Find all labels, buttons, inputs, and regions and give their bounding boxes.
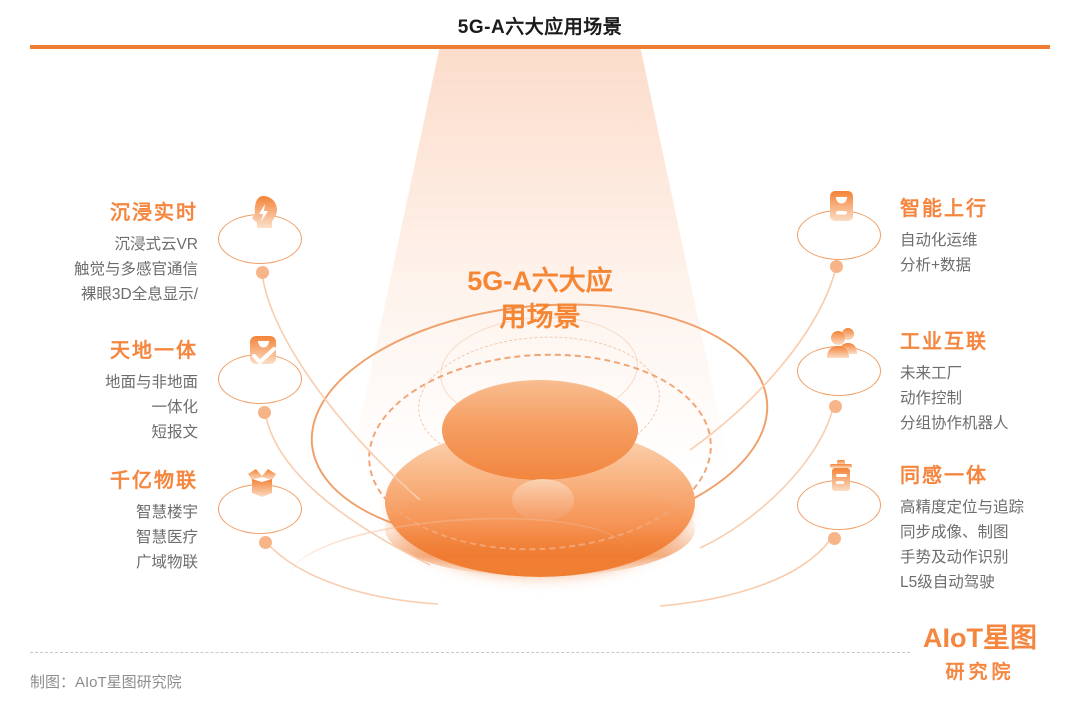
head-lightning-icon	[242, 192, 282, 236]
item-immersive: 沉浸实时 沉浸式云VR 触觉与多感官通信 裸眼3D全息显示/	[0, 196, 198, 307]
item-line: 同步成像、制图	[900, 520, 1080, 545]
connector-dot	[829, 400, 842, 413]
item-lines: 沉浸式云VR 触觉与多感官通信 裸眼3D全息显示/	[0, 232, 198, 307]
item-industrial: 工业互联 未来工厂 动作控制 分组协作机器人	[900, 325, 1080, 436]
item-line: 分组协作机器人	[900, 411, 1080, 436]
open-box-icon	[242, 462, 282, 506]
users-group-icon	[821, 324, 861, 368]
item-line: 沉浸式云VR	[0, 232, 198, 257]
badge-uplink[interactable]	[797, 186, 883, 272]
item-line: 分析+数据	[900, 253, 1080, 278]
center-label: 5G-A六大应 用场景	[290, 264, 790, 335]
item-lines: 高精度定位与追踪 同步成像、制图 手势及动作识别 L5级自动驾驶	[900, 495, 1080, 595]
item-line: 触觉与多感官通信	[0, 257, 198, 282]
logo-sub-text: 研究院	[905, 657, 1055, 684]
infographic-page: 5G-A六大应用场景 5G-A六大应 用场景	[0, 0, 1080, 709]
item-title: 工业互联	[900, 325, 1080, 354]
item-integrated: 天地一体 地面与非地面 一体化 短报文	[0, 334, 198, 445]
item-line: 高精度定位与追踪	[900, 495, 1080, 520]
item-title: 智能上行	[900, 192, 1080, 221]
logo-main-text: AIoT星图	[905, 625, 1055, 652]
item-line: 地面与非地面	[0, 370, 198, 395]
item-line: 动作控制	[900, 386, 1080, 411]
item-line: 短报文	[0, 420, 198, 445]
item-line: 智慧医疗	[0, 525, 198, 550]
connector-dot	[828, 532, 841, 545]
item-sensing: 同感一体 高精度定位与追踪 同步成像、制图 手势及动作识别 L5级自动驾驶	[900, 459, 1080, 595]
connector-dot	[258, 406, 271, 419]
item-line: 一体化	[0, 395, 198, 420]
item-lines: 智慧楼宇 智慧医疗 广域物联	[0, 500, 198, 575]
item-line: 智慧楼宇	[0, 500, 198, 525]
item-iot: 千亿物联 智慧楼宇 智慧医疗 广域物联	[0, 464, 198, 575]
center-label-line1: 5G-A六大应	[290, 264, 790, 300]
item-line: 裸眼3D全息显示/	[0, 282, 198, 307]
badge-iot[interactable]	[218, 460, 304, 546]
item-line: 自动化运维	[900, 228, 1080, 253]
badge-sensing[interactable]	[797, 456, 883, 542]
item-lines: 自动化运维 分析+数据	[900, 228, 1080, 278]
center-label-line2: 用场景	[290, 300, 790, 336]
item-uplink: 智能上行 自动化运维 分析+数据	[900, 192, 1080, 278]
upload-card-icon	[821, 188, 861, 232]
item-lines: 未来工厂 动作控制 分组协作机器人	[900, 361, 1080, 436]
item-title: 同感一体	[900, 459, 1080, 488]
item-line: L5级自动驾驶	[900, 570, 1080, 595]
item-line: 未来工厂	[900, 361, 1080, 386]
item-line: 广域物联	[0, 550, 198, 575]
footer-divider	[30, 652, 910, 653]
item-title: 沉浸实时	[0, 196, 198, 225]
item-title: 千亿物联	[0, 464, 198, 493]
item-lines: 地面与非地面 一体化 短报文	[0, 370, 198, 445]
card-check-icon	[242, 332, 282, 376]
connector-dot	[256, 266, 269, 279]
connector-dot	[259, 536, 272, 549]
footer-credit: 制图：AIoT星图研究院	[30, 671, 182, 692]
clipboard-icon	[821, 458, 861, 502]
badge-industrial[interactable]	[797, 322, 883, 408]
item-line: 手势及动作识别	[900, 545, 1080, 570]
item-title: 天地一体	[0, 334, 198, 363]
brand-logo: AIoT星图 研究院	[905, 625, 1055, 684]
badge-integrated[interactable]	[218, 330, 304, 416]
connector-dot	[830, 260, 843, 273]
